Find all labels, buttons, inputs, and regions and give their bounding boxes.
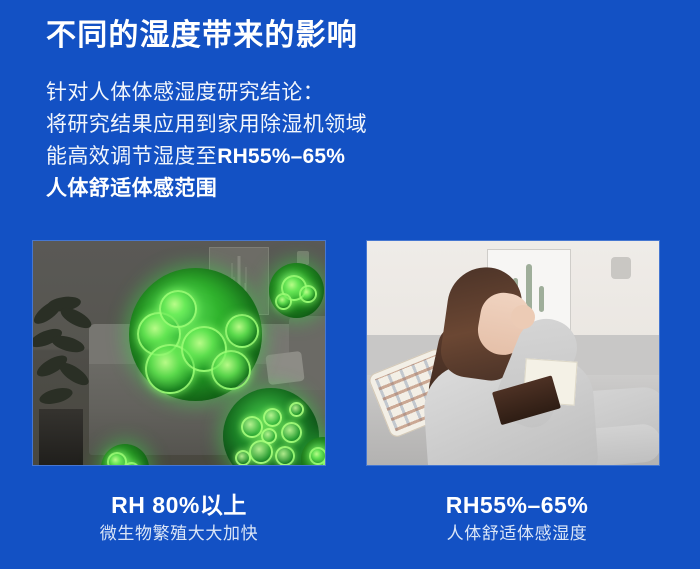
caption-right-subtitle: 人体舒适体感湿度 bbox=[352, 520, 682, 548]
humidity-infographic-poster: 不同的湿度带来的影响 针对人体体感湿度研究结论： 将研究结果应用到家用除湿机领域… bbox=[0, 0, 700, 569]
plant-leaf bbox=[38, 385, 74, 407]
plant-leaf bbox=[50, 333, 87, 356]
photo-humid-room-microbes bbox=[32, 240, 326, 466]
microbe-small-upper-right bbox=[269, 263, 324, 318]
caption-left: RH 80%以上 微生物繁殖大大加快 bbox=[14, 490, 344, 548]
cushion-shape bbox=[265, 351, 304, 385]
body-line-3: 能高效调节湿度至RH55%–65% bbox=[46, 141, 466, 173]
caption-left-subtitle: 微生物繁殖大大加快 bbox=[14, 520, 344, 548]
plant-pot bbox=[39, 409, 83, 465]
body-line-3-prefix: 能高效调节湿度至 bbox=[46, 145, 217, 168]
plant-leaf bbox=[58, 304, 95, 332]
page-title: 不同的湿度带来的影响 bbox=[46, 17, 358, 55]
caption-row: RH 80%以上 微生物繁殖大大加快 RH55%–65% 人体舒适体感湿度 bbox=[0, 490, 700, 569]
potted-plant-icon bbox=[33, 297, 101, 465]
bright-living-room-scene bbox=[367, 241, 659, 465]
body-copy: 针对人体体感湿度研究结论： 将研究结果应用到家用除湿机领域 能高效调节湿度至RH… bbox=[46, 77, 466, 205]
woman-figure bbox=[367, 241, 659, 465]
microbe-cluster-large bbox=[129, 268, 262, 401]
photo-comfort-room-woman-reading bbox=[366, 240, 660, 466]
body-line-4: 人体舒适体感范围 bbox=[46, 173, 466, 205]
body-line-2: 将研究结果应用到家用除湿机领域 bbox=[46, 109, 466, 141]
caption-right-title: RH55%–65% bbox=[352, 490, 682, 520]
body-line-3-highlight: RH55%–65% bbox=[217, 145, 345, 168]
body-line-1: 针对人体体感湿度研究结论： bbox=[46, 77, 466, 109]
dim-living-room-scene bbox=[33, 241, 325, 465]
photo-row bbox=[0, 240, 700, 466]
caption-right: RH55%–65% 人体舒适体感湿度 bbox=[352, 490, 682, 548]
plant-leaf bbox=[56, 359, 92, 390]
caption-left-title: RH 80%以上 bbox=[14, 490, 344, 520]
